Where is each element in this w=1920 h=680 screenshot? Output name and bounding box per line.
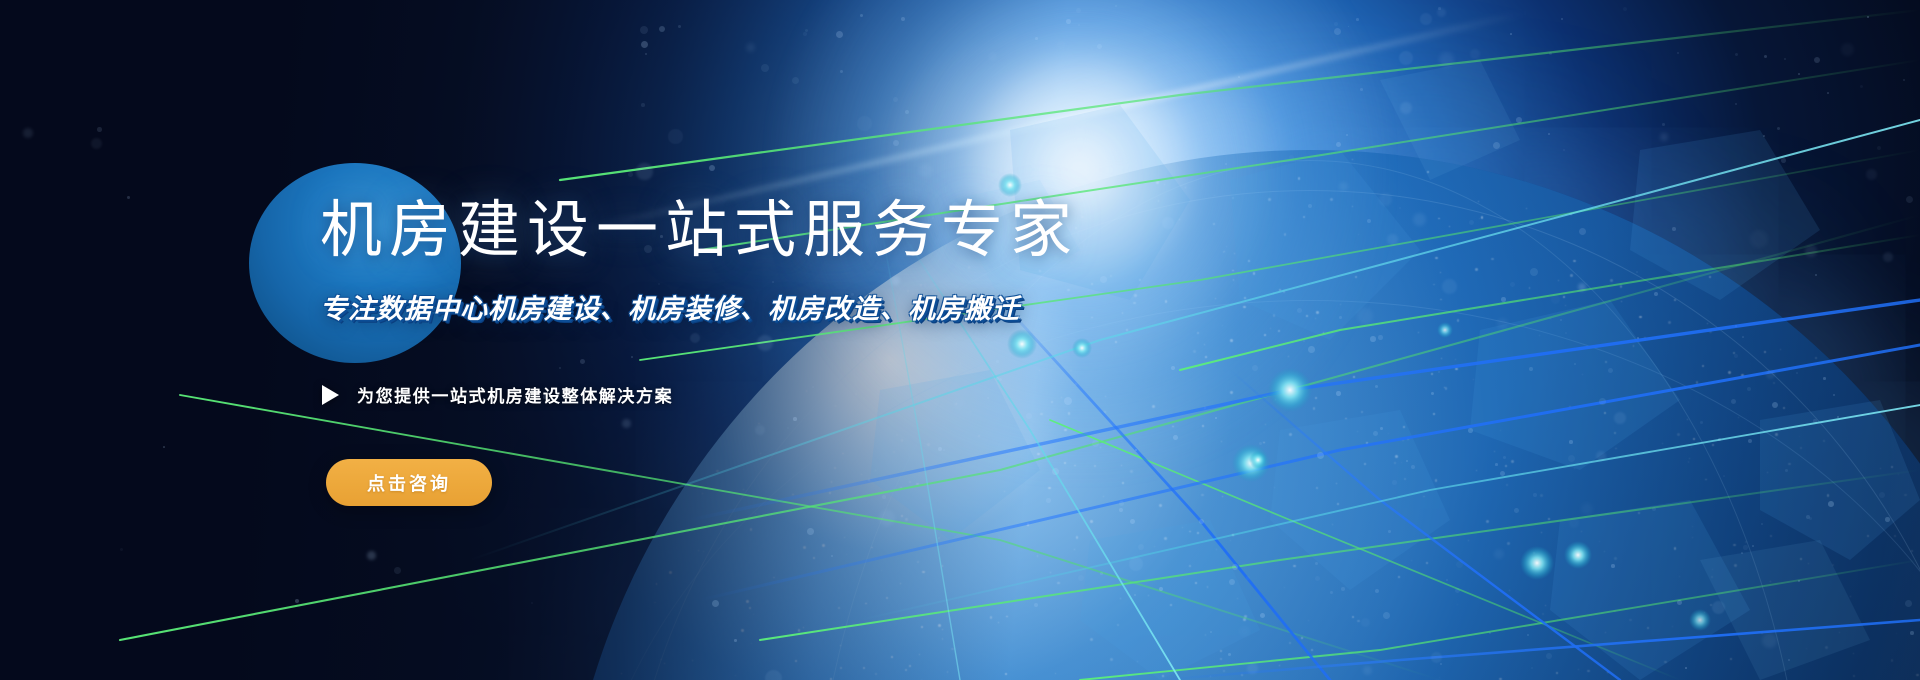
page-title: 机房建设一站式服务专家 — [320, 198, 1079, 264]
play-triangle-icon — [322, 385, 339, 405]
hero-content: 机房建设一站式服务专家 专注数据中心机房建设、机房装修、机房改造、机房搬迁 为您… — [0, 0, 1920, 680]
page-subtitle: 专注数据中心机房建设、机房装修、机房改造、机房搬迁 — [320, 287, 1020, 326]
hero-banner: 机房建设一站式服务专家 专注数据中心机房建设、机房装修、机房改造、机房搬迁 为您… — [0, 0, 1920, 680]
tagline-row: 为您提供一站式机房建设整体解决方案 — [322, 382, 673, 407]
consult-button[interactable]: 点击咨询 — [326, 459, 492, 506]
tagline-text: 为您提供一站式机房建设整体解决方案 — [357, 382, 673, 407]
